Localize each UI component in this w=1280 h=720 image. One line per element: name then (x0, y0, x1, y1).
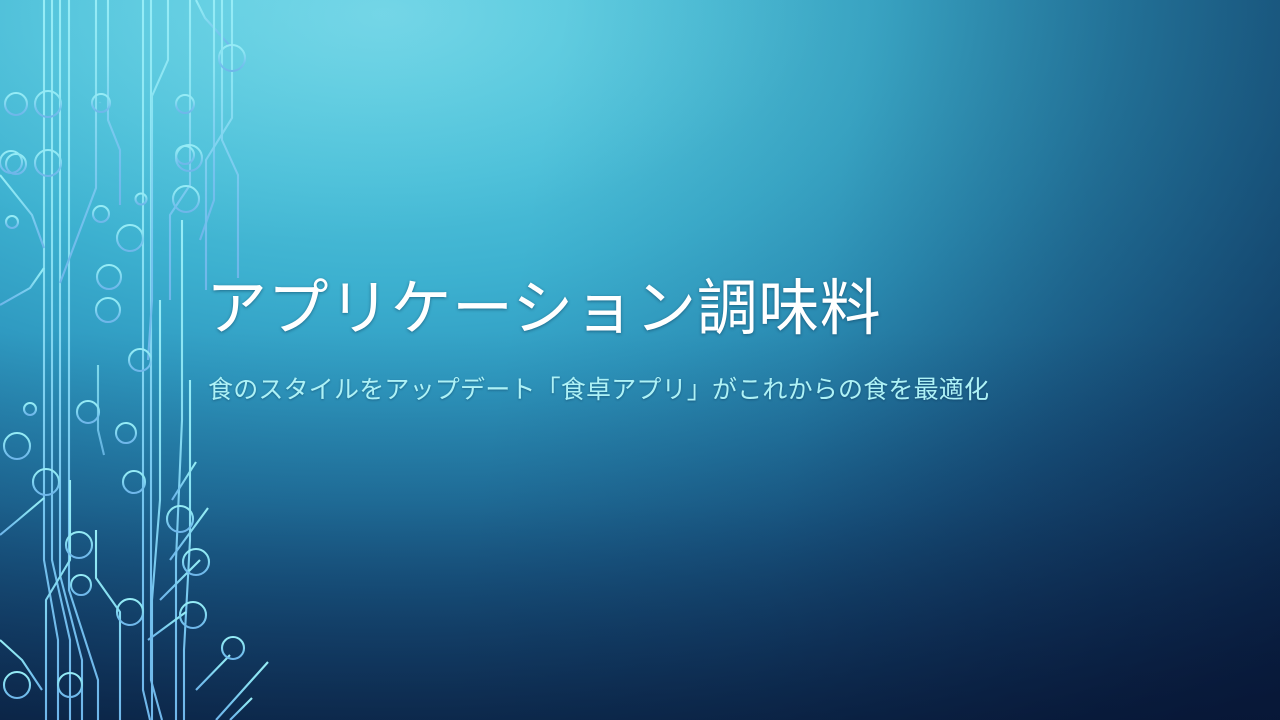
page-title: アプリケーション調味料 (206, 268, 1106, 348)
slide-subtitle: 食のスタイルをアップデート「食卓アプリ」がこれからの食を最適化 (208, 374, 1106, 406)
slide-text-block: アプリケーション調味料 食のスタイルをアップデート「食卓アプリ」がこれからの食を… (206, 268, 1106, 406)
title-slide: アプリケーション調味料 食のスタイルをアップデート「食卓アプリ」がこれからの食を… (0, 0, 1280, 720)
